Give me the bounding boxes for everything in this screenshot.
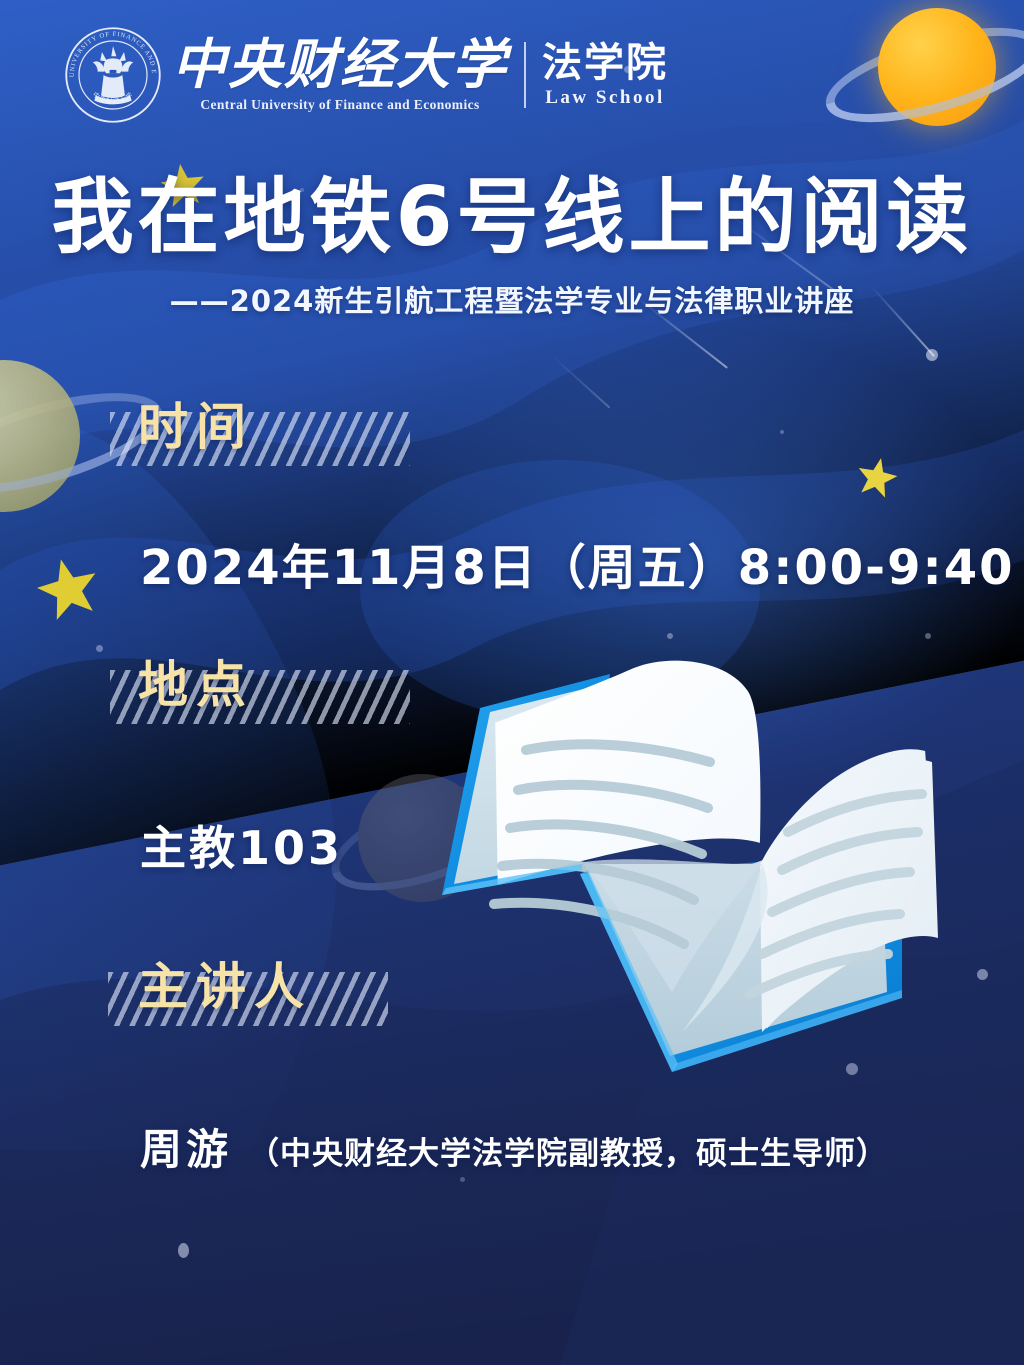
section-time-label-group: 时间 <box>138 402 254 452</box>
speaker-title: （中央财经大学法学院副教授，硕士生导师） <box>248 1128 888 1173</box>
section-label-place: 地点 <box>138 660 254 710</box>
brand-divider <box>524 42 526 108</box>
university-name-block: 中央财经大学 Central University of Finance and… <box>172 37 508 113</box>
poster-canvas: CENTRAL UNIVERSITY OF FINANCE AND ECONOM… <box>0 0 1024 1365</box>
speaker-name: 周游 <box>140 1116 232 1177</box>
value-place: 主教103 <box>140 812 343 878</box>
planet-top-right <box>840 0 1024 160</box>
section-label-speaker: 主讲人 <box>138 962 312 1012</box>
open-book-illustration-icon <box>432 612 992 1102</box>
school-name-block: 法学院 Law School <box>542 41 668 109</box>
school-name-cn: 法学院 <box>542 41 668 85</box>
brand-wordmark: 中央财经大学 Central University of Finance and… <box>172 37 668 113</box>
star-dot <box>96 645 103 652</box>
star-icon <box>36 556 100 620</box>
university-name-cn: 中央财经大学 <box>172 37 508 94</box>
page-title: 我在地铁6号线上的阅读 <box>0 150 1024 269</box>
section-speaker-label-group: 主讲人 <box>138 962 312 1012</box>
meteor-streak <box>550 353 611 408</box>
star-dot <box>460 1177 465 1182</box>
section-place-label-group: 地点 <box>138 660 254 710</box>
star-icon <box>856 456 898 498</box>
value-time: 2024年11月8日（周五）8:00-9:40 <box>140 528 1015 598</box>
star-dot <box>926 349 938 361</box>
value-speaker: 周游 （中央财经大学法学院副教授，硕士生导师） <box>140 1116 888 1177</box>
star-dot <box>780 430 784 434</box>
university-name-en: Central University of Finance and Econom… <box>200 97 479 113</box>
university-seal-icon: CENTRAL UNIVERSITY OF FINANCE AND ECONOM… <box>62 24 164 126</box>
brand-header: CENTRAL UNIVERSITY OF FINANCE AND ECONOM… <box>62 24 668 126</box>
page-subtitle: ——2024新生引航工程暨法学专业与法律职业讲座 <box>0 278 1024 320</box>
star-dot <box>178 1243 189 1258</box>
school-name-en: Law School <box>545 87 665 109</box>
section-label-time: 时间 <box>138 402 254 452</box>
